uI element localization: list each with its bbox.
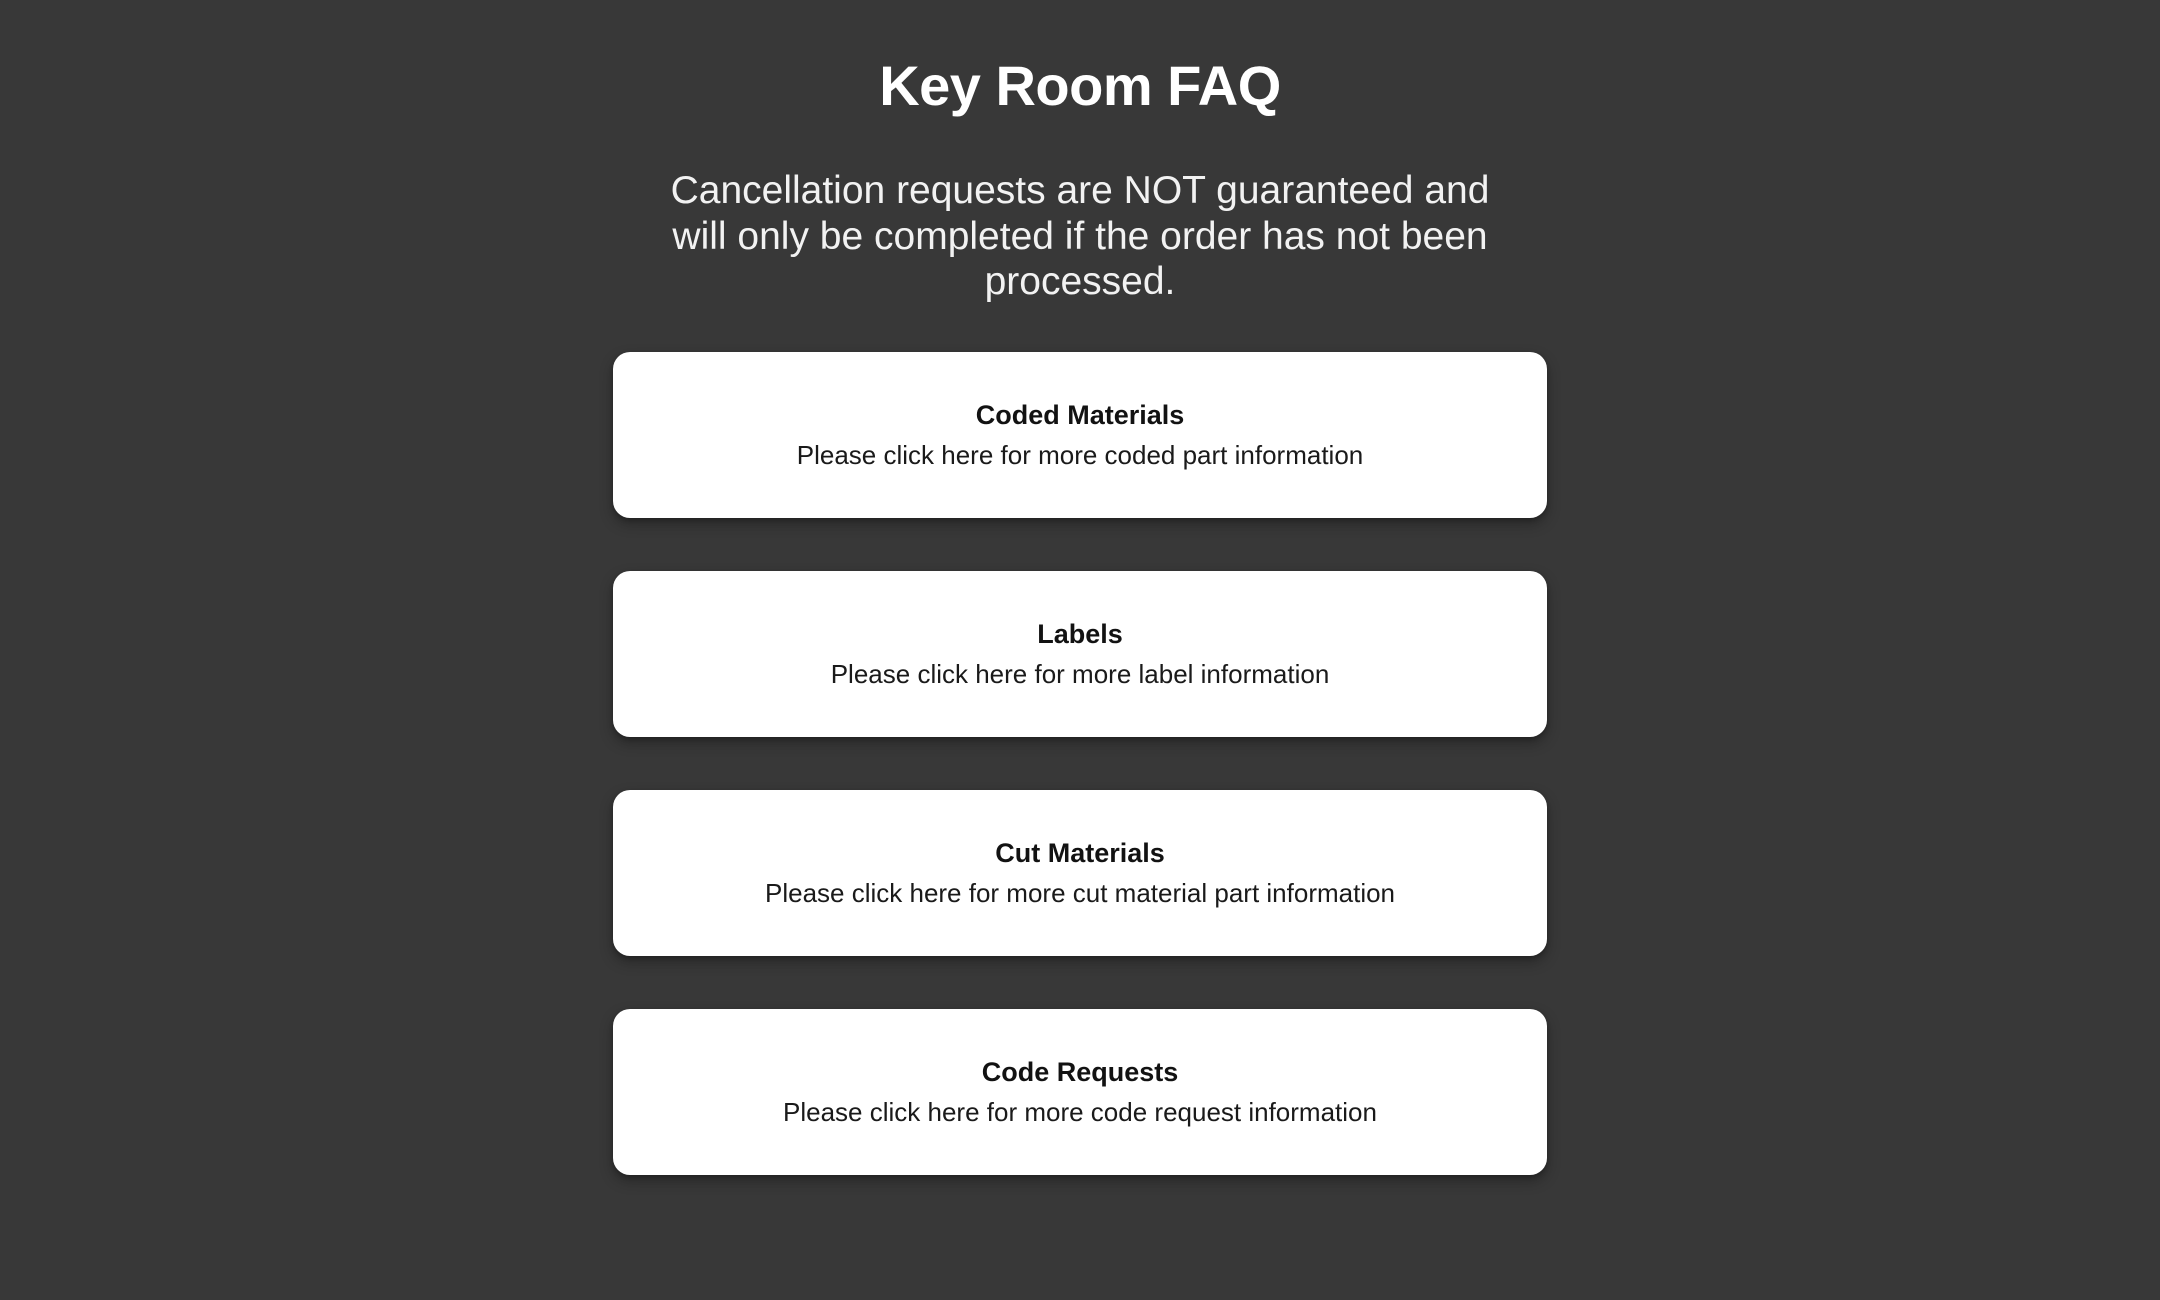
faq-card-coded-materials[interactable]: Coded Materials Please click here for mo… [613, 352, 1547, 518]
faq-card-title: Labels [1037, 618, 1123, 650]
faq-card-title: Code Requests [982, 1056, 1179, 1088]
faq-page: Key Room FAQ Cancellation requests are N… [0, 0, 2160, 1300]
faq-card-list: Coded Materials Please click here for mo… [613, 352, 1547, 1175]
faq-card-labels[interactable]: Labels Please click here for more label … [613, 571, 1547, 737]
faq-card-description: Please click here for more coded part in… [797, 440, 1364, 471]
faq-card-cut-materials[interactable]: Cut Materials Please click here for more… [613, 790, 1547, 956]
faq-card-description: Please click here for more code request … [783, 1097, 1377, 1128]
page-title: Key Room FAQ [879, 58, 1281, 114]
faq-card-title: Cut Materials [995, 837, 1165, 869]
faq-card-code-requests[interactable]: Code Requests Please click here for more… [613, 1009, 1547, 1175]
faq-card-title: Coded Materials [976, 399, 1185, 431]
cancellation-notice: Cancellation requests are NOT guaranteed… [640, 168, 1520, 305]
faq-card-description: Please click here for more label informa… [831, 659, 1330, 690]
faq-card-description: Please click here for more cut material … [765, 878, 1395, 909]
